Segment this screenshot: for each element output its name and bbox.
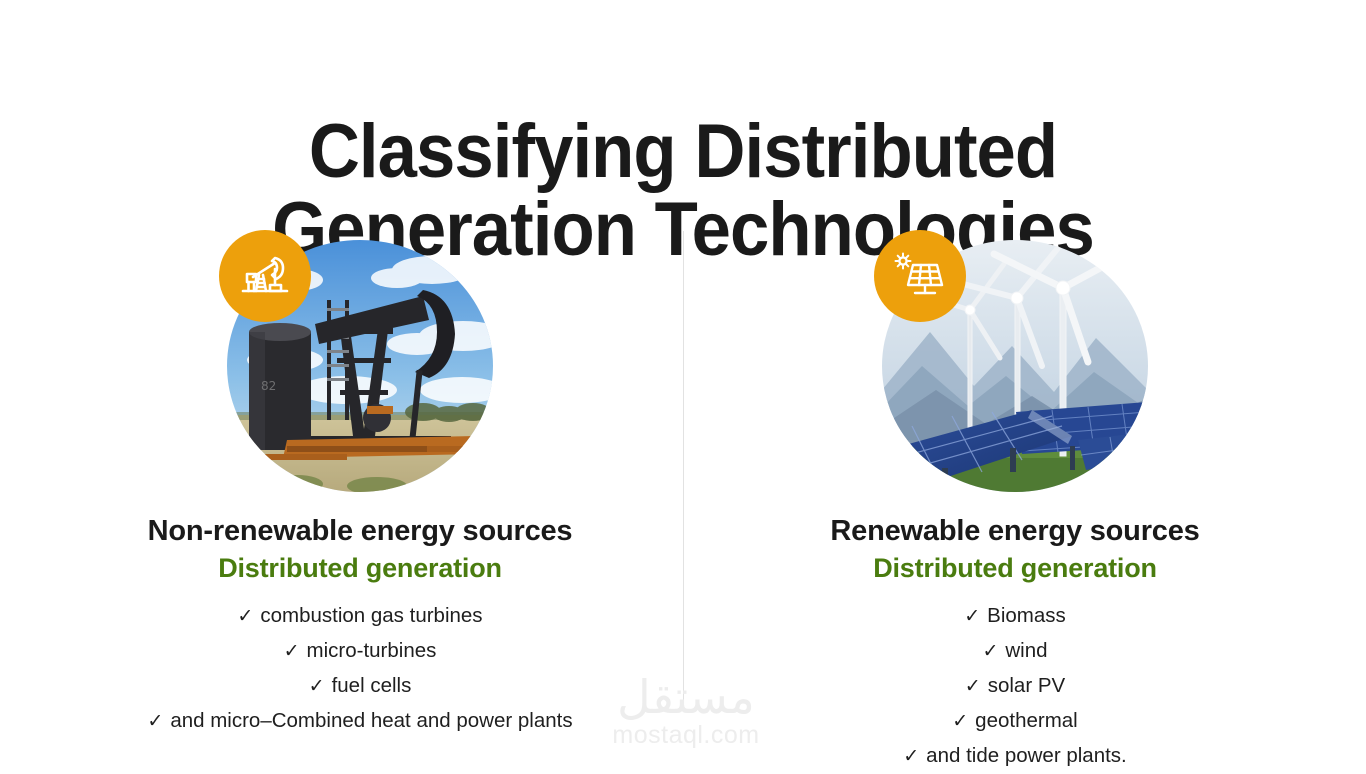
text-block-renewable: Renewable energy sources Distributed gen…	[700, 514, 1330, 774]
list-item-label: combustion gas turbines	[260, 604, 482, 627]
column-non-renewable: 82	[40, 240, 680, 739]
solar-panel-badge	[874, 230, 966, 322]
check-icon: ✓	[237, 600, 253, 634]
bullet-list-non-renewable: ✓combustion gas turbines ✓micro-turbines…	[40, 599, 680, 739]
column-renewable: Renewable energy sources Distributed gen…	[700, 240, 1330, 774]
list-item: ✓wind	[700, 634, 1330, 669]
check-icon: ✓	[903, 740, 919, 774]
oil-pumpjack-icon	[237, 251, 293, 301]
list-item-label: micro-turbines	[307, 639, 437, 662]
check-icon: ✓	[964, 600, 980, 634]
oil-pumpjack-badge	[219, 230, 311, 322]
column-subheading-non-renewable: Distributed generation	[40, 552, 680, 585]
list-item: ✓fuel cells	[40, 669, 680, 704]
check-icon: ✓	[952, 705, 968, 739]
list-item: ✓and micro–Combined heat and power plant…	[40, 704, 680, 739]
column-divider	[683, 231, 684, 701]
column-heading-renewable: Renewable energy sources	[700, 514, 1330, 548]
list-item-label: geothermal	[975, 709, 1078, 732]
photo-wrap-renewable	[882, 240, 1148, 492]
list-item: ✓geothermal	[700, 704, 1330, 739]
svg-text:82: 82	[261, 379, 276, 393]
list-item-label: and micro–Combined heat and power plants	[170, 709, 572, 732]
photo-wrap-non-renewable: 82	[227, 240, 493, 492]
page-title-line-1: Classifying Distributed	[48, 113, 1318, 191]
list-item-label: fuel cells	[332, 674, 412, 697]
solar-panel-icon	[892, 251, 948, 301]
check-icon: ✓	[284, 635, 300, 669]
check-icon: ✓	[147, 705, 163, 739]
list-item-label: and tide power plants.	[926, 744, 1127, 767]
list-item: ✓micro-turbines	[40, 634, 680, 669]
check-icon: ✓	[309, 670, 325, 704]
list-item: ✓solar PV	[700, 669, 1330, 704]
text-block-non-renewable: Non-renewable energy sources Distributed…	[40, 514, 680, 739]
list-item: ✓Biomass	[700, 599, 1330, 634]
list-item-label: Biomass	[987, 604, 1066, 627]
bullet-list-renewable: ✓Biomass ✓wind ✓solar PV ✓geothermal ✓an…	[700, 599, 1330, 774]
column-heading-non-renewable: Non-renewable energy sources	[40, 514, 680, 548]
list-item: ✓combustion gas turbines	[40, 599, 680, 634]
column-subheading-renewable: Distributed generation	[700, 552, 1330, 585]
list-item-label: wind	[1005, 639, 1047, 662]
list-item: ✓and tide power plants.	[700, 739, 1330, 774]
list-item-label: solar PV	[988, 674, 1065, 697]
check-icon: ✓	[965, 670, 981, 704]
check-icon: ✓	[982, 635, 998, 669]
